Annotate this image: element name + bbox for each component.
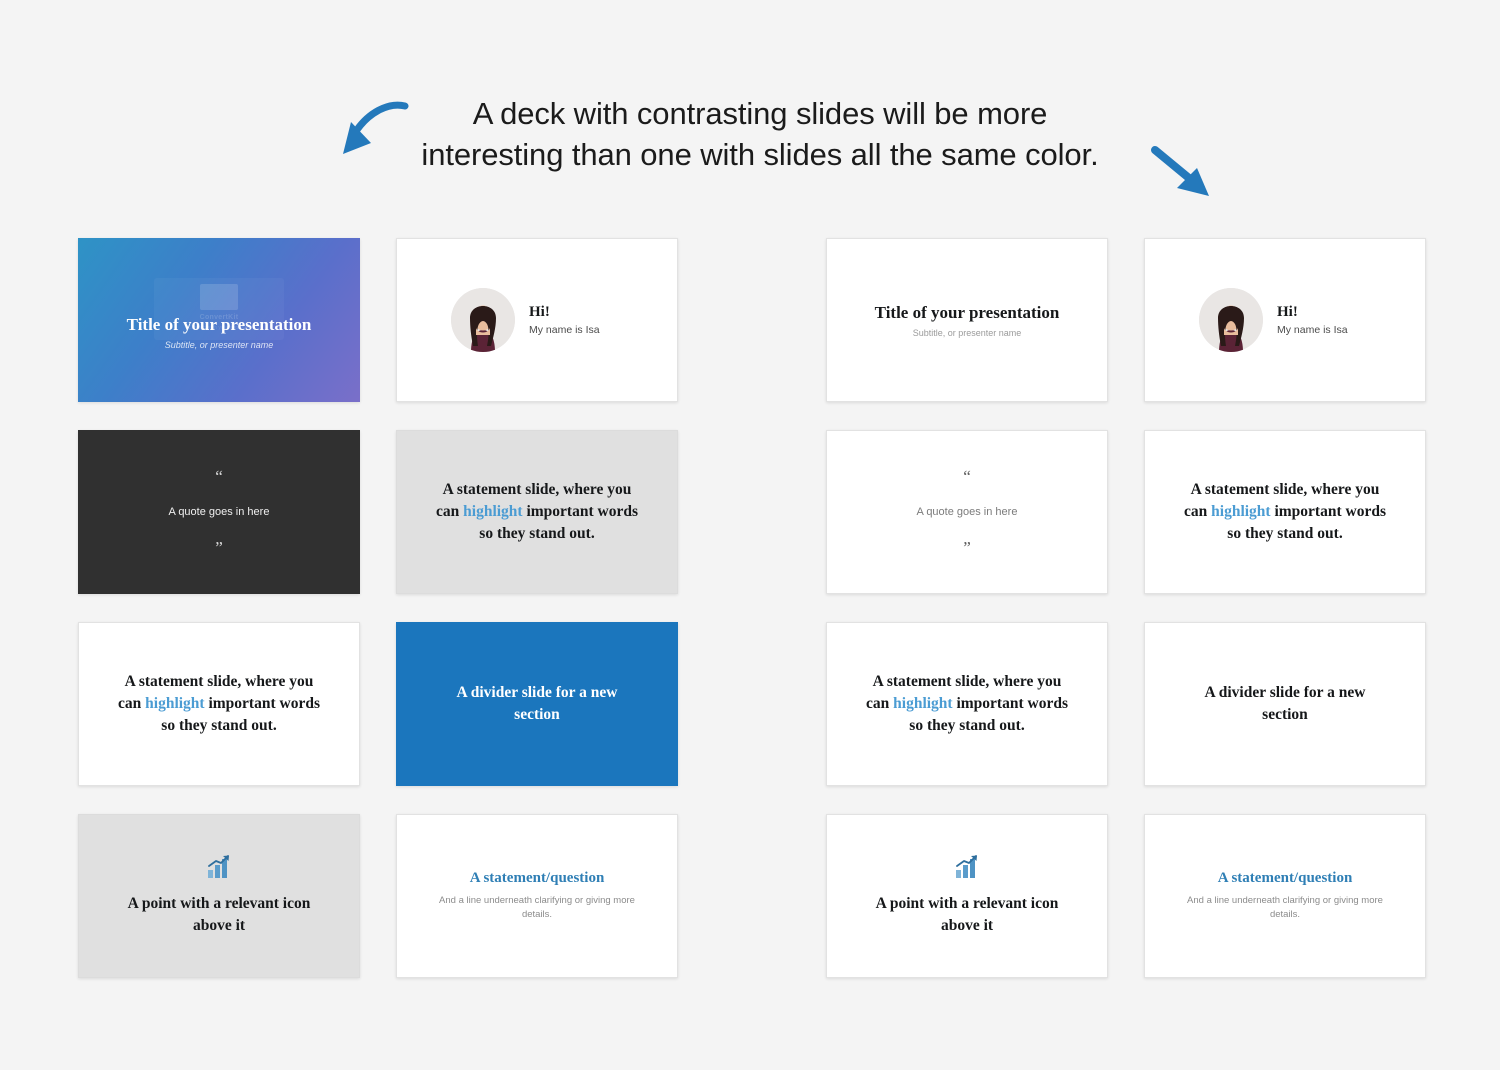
slide-divider-white[interactable]: A divider slide for a new section [1144,622,1426,786]
page-root: A deck with contrasting slides will be m… [0,0,1500,1070]
bar-chart-growth-icon [954,855,980,884]
slide-statement-white[interactable]: A statement slide, where you can highlig… [826,622,1108,786]
question-title: A statement/question [470,870,605,887]
statement-text: A statement slide, where you can highlig… [1178,479,1393,545]
quote-text: A quote goes in here [169,506,270,518]
intro-name: My name is Isa [529,324,600,336]
statement-highlight: highlight [463,503,522,520]
slide-intro[interactable]: Hi! My name is Isa [396,238,678,402]
statement-highlight: highlight [1211,503,1270,520]
intro-name: My name is Isa [1277,324,1348,336]
slide-subtitle-text: Subtitle, or presenter name [913,328,1022,338]
intro-greeting: Hi! [1277,304,1348,321]
avatar [1199,288,1263,352]
slide-statement-white[interactable]: A statement slide, where you can highlig… [78,622,360,786]
arrow-down-right-icon [1143,142,1223,207]
deck-row: ConvertKit Connect with your audience Ti… [78,238,678,402]
divider-text: A divider slide for a new section [437,682,637,726]
question-title: A statement/question [1218,870,1353,887]
slide-title-gradient[interactable]: ConvertKit Connect with your audience Ti… [78,238,360,402]
same-color-deck: Title of your presentation Subtitle, or … [826,238,1426,978]
contrasting-deck: ConvertKit Connect with your audience Ti… [78,238,678,978]
slide-title-white[interactable]: Title of your presentation Subtitle, or … [826,238,1108,402]
slide-icon-white[interactable]: A point with a relevant icon above it [826,814,1108,978]
quote-close-mark: ” [963,539,971,556]
bar-chart-growth-icon [206,855,232,884]
slide-statement-white[interactable]: A statement slide, where you can highlig… [1144,430,1426,594]
statement-text: A statement slide, where you can highlig… [860,671,1075,737]
slide-icon-gray[interactable]: A point with a relevant icon above it [78,814,360,978]
statement-text: A statement slide, where you can highlig… [112,671,327,737]
quote-text: A quote goes in here [917,506,1018,518]
slide-quote-white[interactable]: “ A quote goes in here ” [826,430,1108,594]
slide-divider-blue[interactable]: A divider slide for a new section [396,622,678,786]
slide-question-white[interactable]: A statement/question And a line undernea… [396,814,678,978]
curved-arrow-down-left-icon [331,96,411,171]
slide-intro[interactable]: Hi! My name is Isa [1144,238,1426,402]
quote-open-mark: “ [215,468,223,485]
deck-row: “ A quote goes in here ” A statement sli… [826,430,1426,594]
slide-subtitle-text: Subtitle, or presenter name [165,340,274,350]
deck-row: A point with a relevant icon above it A … [826,814,1426,978]
icon-slide-text: A point with a relevant icon above it [860,893,1075,937]
slide-title-text: Title of your presentation [127,315,312,335]
slide-statement-gray[interactable]: A statement slide, where you can highlig… [396,430,678,594]
icon-slide-text: A point with a relevant icon above it [112,893,327,937]
deck-row: A statement slide, where you can highlig… [78,622,678,786]
deck-row: Title of your presentation Subtitle, or … [826,238,1426,402]
intro-greeting: Hi! [529,304,600,321]
deck-row: “ A quote goes in here ” A statement sli… [78,430,678,594]
deck-row: A point with a relevant icon above it A … [78,814,678,978]
deck-row: A statement slide, where you can highlig… [826,622,1426,786]
slide-title-text: Title of your presentation [875,303,1060,323]
statement-text: A statement slide, where you can highlig… [430,479,645,545]
headline-line-2: interesting than one with slides all the… [380,134,1140,175]
divider-text: A divider slide for a new section [1185,682,1385,726]
quote-close-mark: ” [215,539,223,556]
slide-question-white[interactable]: A statement/question And a line undernea… [1144,814,1426,978]
question-subtitle: And a line underneath clarifying or givi… [437,894,637,923]
statement-highlight: highlight [145,695,204,712]
avatar [451,288,515,352]
headline-line-1: A deck with contrasting slides will be m… [473,96,1048,131]
page-headline: A deck with contrasting slides will be m… [380,93,1140,175]
quote-open-mark: “ [963,468,971,485]
slide-quote-dark[interactable]: “ A quote goes in here ” [78,430,360,594]
question-subtitle: And a line underneath clarifying or givi… [1185,894,1385,923]
statement-highlight: highlight [893,695,952,712]
